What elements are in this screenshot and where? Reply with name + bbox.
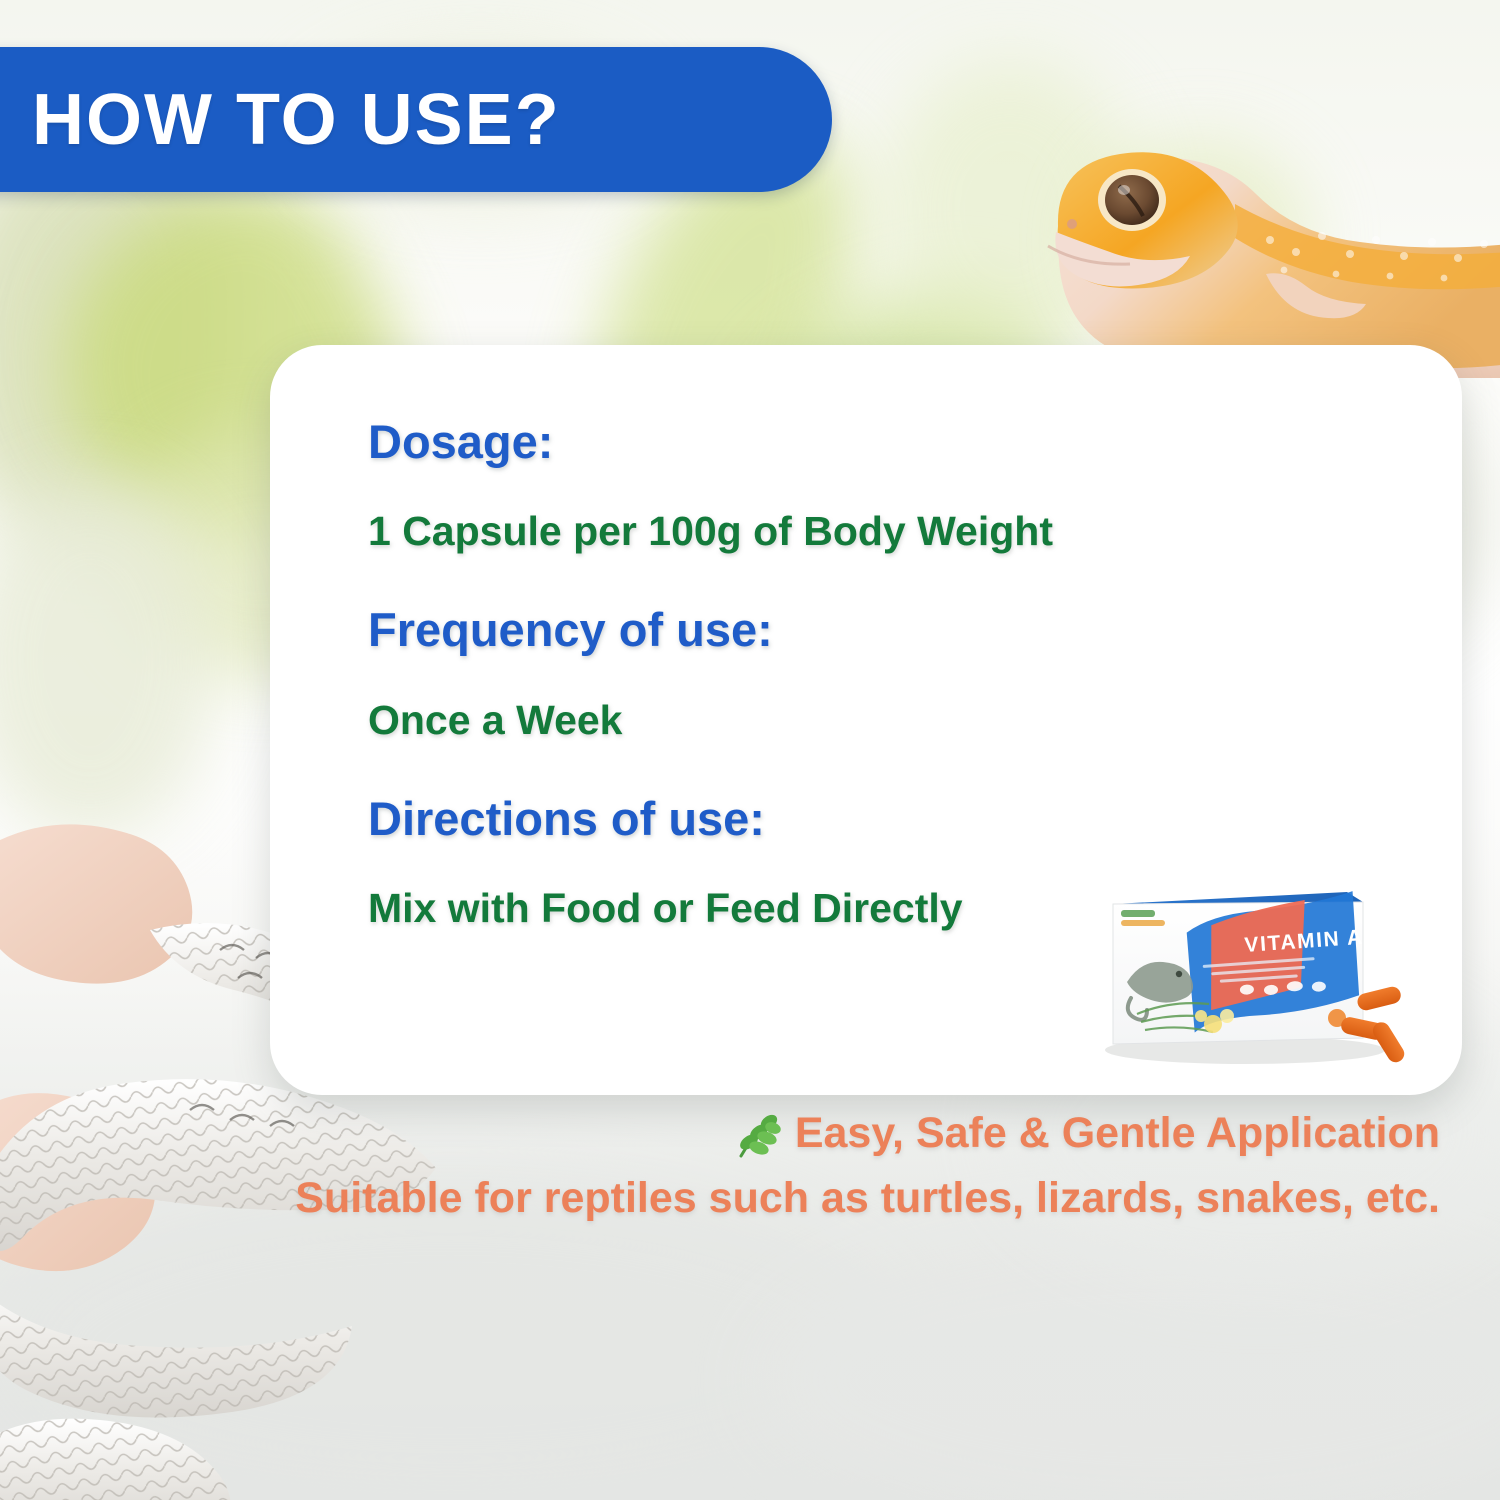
product-box-photo: VITAMIN A (1095, 878, 1405, 1068)
footer-line-2: Suitable for reptiles such as turtles, l… (295, 1176, 1440, 1221)
leaf-branch-icon (729, 1108, 783, 1160)
dosage-heading: Dosage: (368, 417, 1422, 466)
dosage-value: 1 Capsule per 100g of Body Weight (368, 510, 1422, 553)
frequency-heading: Frequency of use: (368, 605, 1422, 654)
frequency-value: Once a Week (368, 699, 1422, 742)
page-title: HOW TO USE? (32, 84, 561, 156)
instructions-content: Dosage: 1 Capsule per 100g of Body Weigh… (368, 417, 1422, 930)
footer-claims: Easy, Safe & Gentle Application Suitable… (0, 1108, 1500, 1221)
gecko-photo (1020, 128, 1500, 378)
footer-line-1: Easy, Safe & Gentle Application (795, 1111, 1440, 1156)
promo-banner-page: Dosage: 1 Capsule per 100g of Body Weigh… (0, 0, 1500, 1500)
footer-line-2-row: Suitable for reptiles such as turtles, l… (0, 1176, 1500, 1221)
how-to-use-banner: HOW TO USE? (0, 47, 832, 192)
footer-line-1-row: Easy, Safe & Gentle Application (0, 1108, 1500, 1160)
directions-heading: Directions of use: (368, 794, 1422, 843)
